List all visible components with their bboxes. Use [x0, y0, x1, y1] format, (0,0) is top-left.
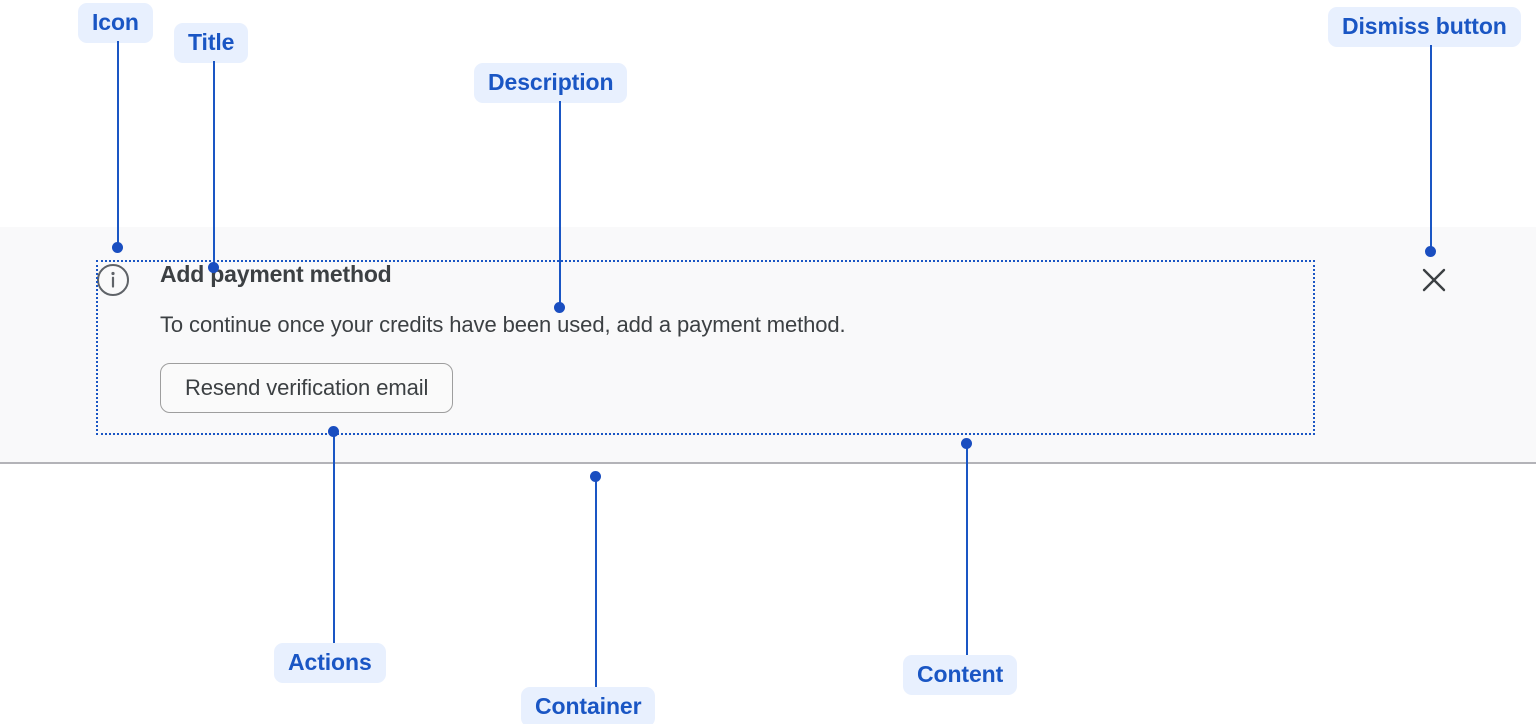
banner-description: To continue once your credits have been … — [160, 311, 1310, 340]
annotation-label-dismiss: Dismiss button — [1328, 7, 1521, 47]
close-x-icon — [1418, 264, 1450, 296]
dismiss-button[interactable] — [1418, 264, 1450, 296]
annotated-component-diagram: Add payment method To continue once your… — [0, 0, 1536, 724]
banner-content: Add payment method To continue once your… — [96, 260, 1316, 435]
annotation-label-container: Container — [521, 687, 655, 724]
annotation-leader-content — [966, 448, 968, 655]
banner-title: Add payment method — [160, 260, 1310, 289]
annotation-dot-container — [590, 471, 601, 482]
annotation-dot-dismiss — [1425, 246, 1436, 257]
annotation-leader-description — [559, 101, 561, 308]
annotation-dot-actions — [328, 426, 339, 437]
notification-banner-container: Add payment method To continue once your… — [0, 227, 1536, 464]
annotation-leader-title — [213, 61, 215, 268]
annotation-label-actions: Actions — [274, 643, 386, 683]
annotation-label-icon: Icon — [78, 3, 153, 43]
annotation-label-title: Title — [174, 23, 248, 63]
annotation-label-content: Content — [903, 655, 1017, 695]
annotation-leader-icon — [117, 41, 119, 248]
annotation-dot-icon — [112, 242, 123, 253]
banner-actions: Resend verification email — [160, 363, 1310, 413]
info-circle-icon — [96, 263, 130, 297]
annotation-leader-container — [595, 481, 597, 687]
banner-text-block: Add payment method To continue once your… — [160, 260, 1310, 413]
annotation-dot-content — [961, 438, 972, 449]
annotation-dot-title — [208, 262, 219, 273]
annotation-dot-description — [554, 302, 565, 313]
resend-verification-email-button[interactable]: Resend verification email — [160, 363, 453, 413]
annotation-leader-dismiss — [1430, 45, 1432, 252]
annotation-leader-actions — [333, 436, 335, 643]
annotation-label-description: Description — [474, 63, 627, 103]
